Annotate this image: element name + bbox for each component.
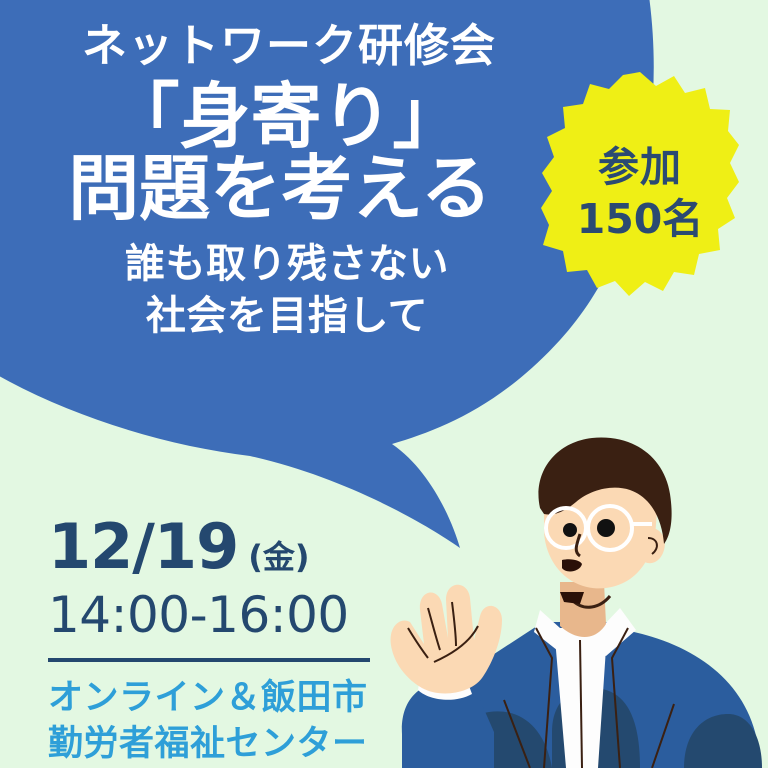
- headline-block: ネットワーク研修会 「身寄り」 問題を考える 誰も取り残さない 社会を目指して: [0, 0, 560, 343]
- participants-badge: 参加 150名: [541, 72, 739, 314]
- date-row: 12/19 (金): [48, 516, 370, 578]
- badge-line-2: 150名: [577, 195, 704, 243]
- badge-text-group: 参加 150名: [541, 72, 739, 314]
- venue-line-2: 勤労者福祉センター: [48, 722, 370, 768]
- eye-left: [563, 523, 577, 537]
- event-subtitle-line1: 誰も取り残さない: [0, 238, 560, 292]
- event-kicker: ネットワーク研修会: [0, 22, 560, 71]
- person-svg: [384, 432, 768, 768]
- event-venue: オンライン＆飯田市 勤労者福祉センター: [48, 676, 370, 767]
- event-title-line1: 「身寄り」: [0, 77, 560, 157]
- eye-right: [597, 519, 615, 537]
- event-title-line2: 問題を考える: [0, 150, 560, 228]
- venue-line-1: オンライン＆飯田市: [48, 676, 370, 722]
- neck: [560, 582, 606, 637]
- info-divider: [48, 658, 370, 662]
- badge-line-1: 参加: [598, 143, 682, 191]
- event-info-block: 12/19 (金) 14:00-16:00 オンライン＆飯田市 勤労者福祉センタ…: [48, 516, 370, 767]
- man-waving-illustration: [384, 432, 768, 768]
- event-day-of-week: (金): [248, 541, 309, 573]
- event-subtitle-line2: 社会を目指して: [0, 290, 560, 344]
- poster-canvas: ネットワーク研修会 「身寄り」 問題を考える 誰も取り残さない 社会を目指して …: [0, 0, 768, 768]
- ear: [642, 527, 665, 563]
- event-time: 14:00-16:00: [48, 590, 370, 640]
- event-date: 12/19: [48, 516, 238, 578]
